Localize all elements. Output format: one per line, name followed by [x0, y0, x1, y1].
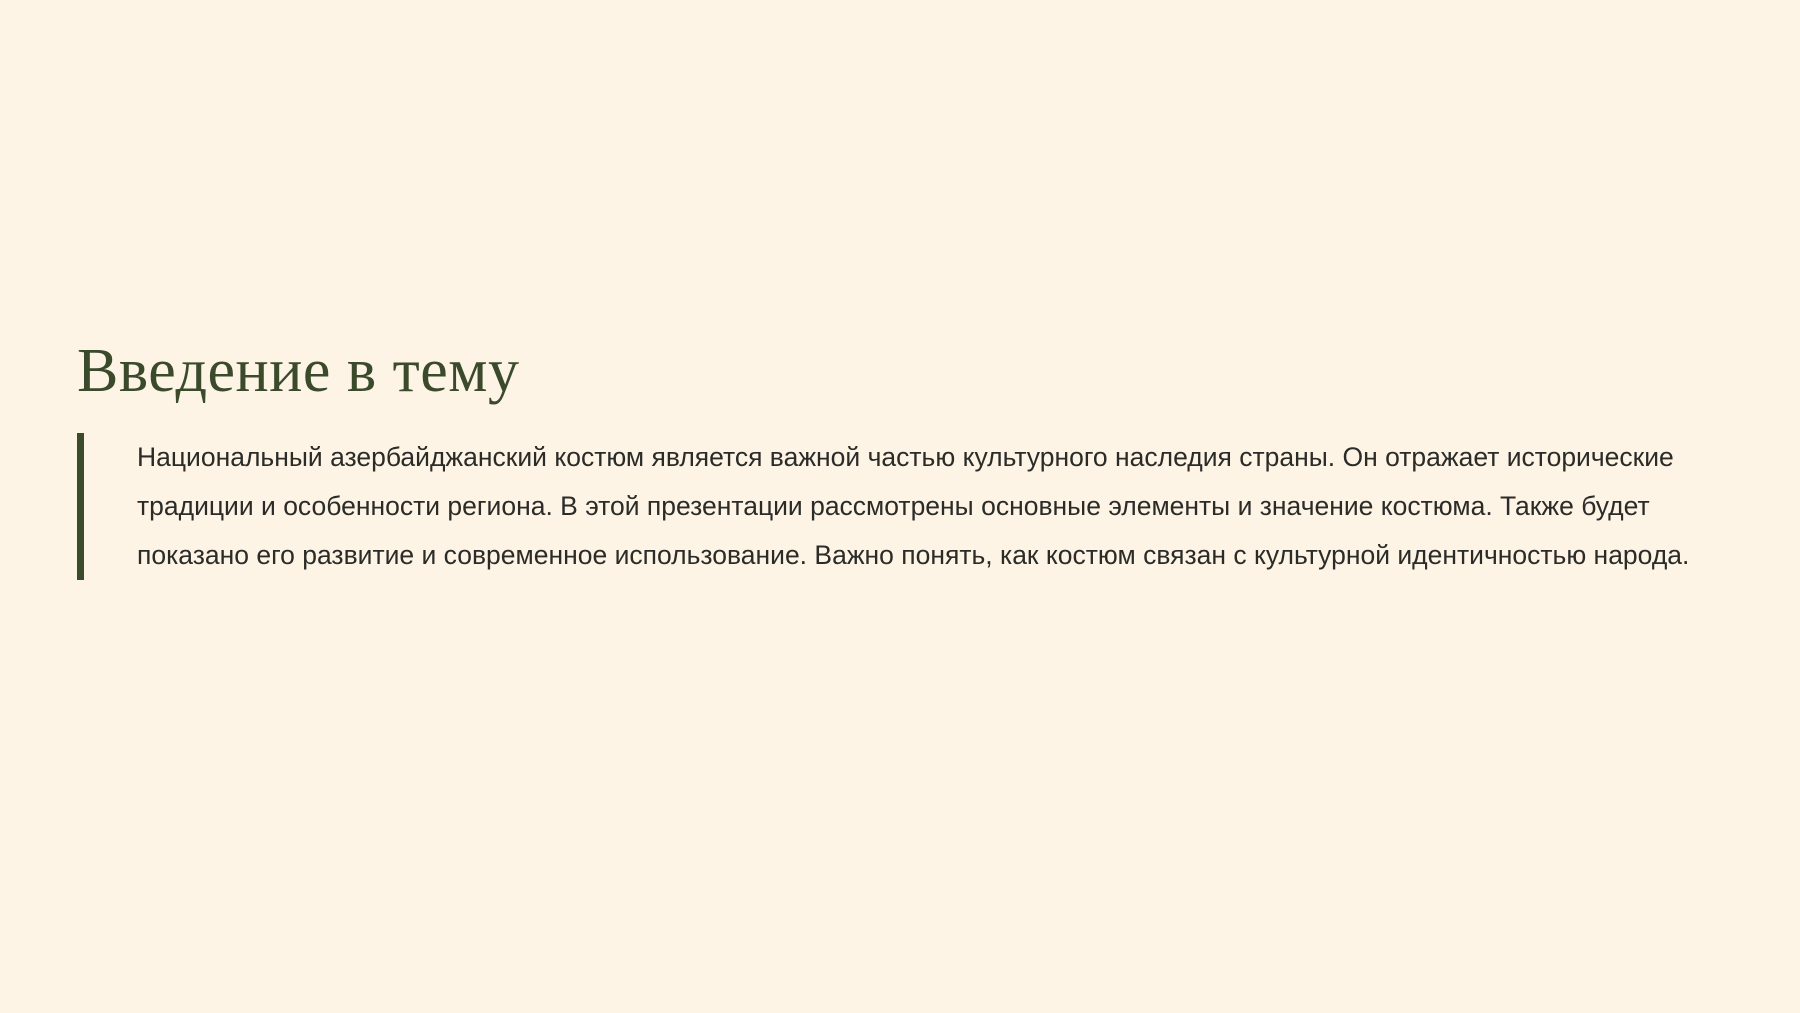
presentation-slide: Введение в тему Национальный азербайджан… — [0, 0, 1800, 1013]
slide-content: Введение в тему Национальный азербайджан… — [77, 338, 1727, 580]
body-text-block: Национальный азербайджанский костюм явля… — [77, 433, 1727, 580]
slide-title: Введение в тему — [77, 338, 1727, 405]
body-paragraph: Национальный азербайджанский костюм явля… — [137, 433, 1727, 580]
